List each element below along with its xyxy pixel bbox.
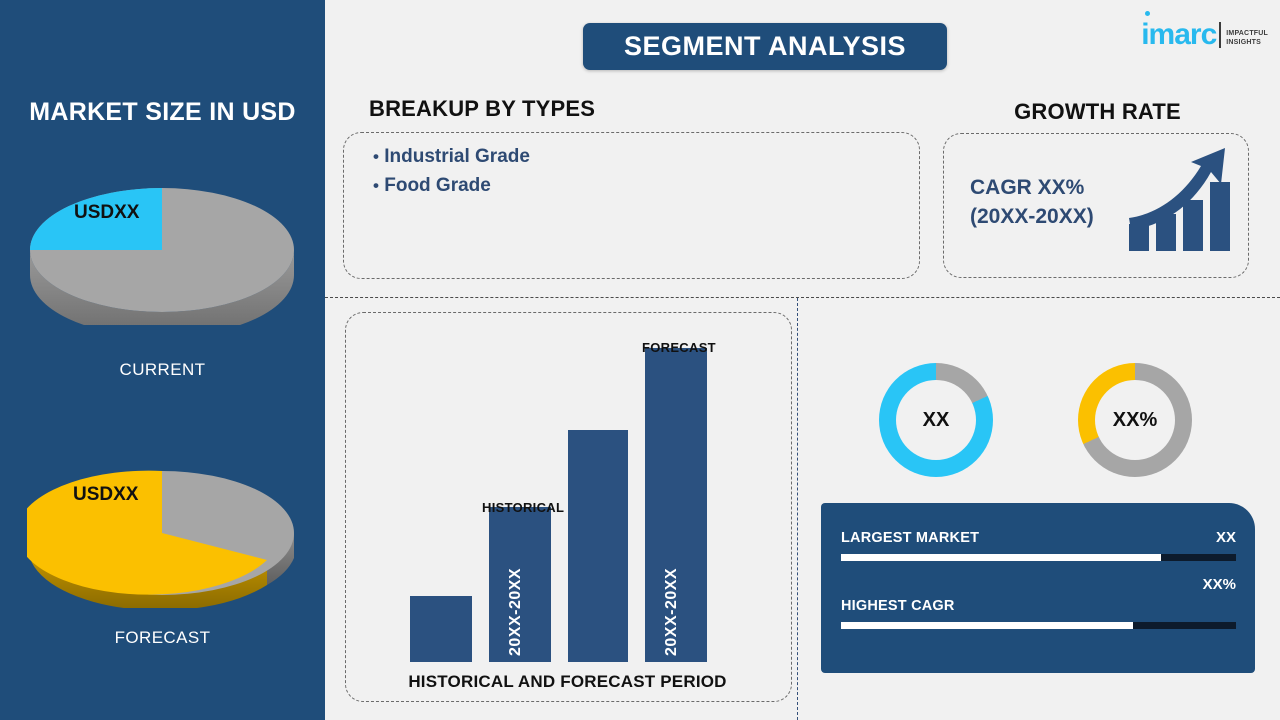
types-list: • Industrial Grade • Food Grade — [373, 142, 530, 200]
bar-2-label: 20XX-20XX — [507, 536, 525, 656]
metric-progress-fill — [841, 554, 1161, 561]
bar-2-top-label: HISTORICAL — [482, 500, 564, 515]
infographic-root: MARKET SIZE IN USD USDXX CURRENT — [0, 0, 1280, 720]
metric-label: LARGEST MARKET — [841, 530, 979, 546]
bullet-icon: • — [373, 147, 379, 166]
forecast-pie-label: FORECAST — [0, 628, 325, 648]
logo-tagline-line2: INSIGHTS — [1226, 38, 1268, 47]
bar-4-label: 20XX-20XX — [663, 536, 681, 656]
list-item-label: Food Grade — [384, 175, 491, 196]
bullet-icon: • — [373, 176, 379, 195]
logo-divider — [1219, 22, 1221, 48]
metric-progress-fill — [841, 622, 1133, 629]
growth-heading: GROWTH RATE — [945, 99, 1250, 125]
metric-value: XX% — [1203, 576, 1236, 593]
current-pie-label: CURRENT — [0, 360, 325, 380]
logo-wordmark-text: imarc — [1141, 18, 1216, 51]
list-item-label: Industrial Grade — [384, 146, 530, 167]
logo-dot-icon — [1145, 11, 1150, 16]
metric-largest-market: LARGEST MARKET XX — [841, 530, 1236, 561]
cagr-text: CAGR XX% (20XX-20XX) — [970, 173, 1130, 231]
current-pie-svg — [27, 165, 297, 325]
forecast-pie-chart: USDXX — [27, 448, 297, 608]
metric-label: HIGHEST CAGR — [841, 598, 955, 614]
cagr-line-1: CAGR XX% — [970, 173, 1130, 202]
bar-3 — [568, 430, 628, 662]
types-heading: BREAKUP BY TYPES — [369, 96, 595, 122]
list-item: • Food Grade — [373, 171, 530, 200]
bar-4-top-label: FORECAST — [642, 340, 716, 355]
sidebar-market-size: MARKET SIZE IN USD USDXX CURRENT — [0, 0, 325, 720]
sidebar-title: MARKET SIZE IN USD — [0, 98, 325, 127]
metric-value: XX — [1216, 529, 1236, 546]
logo-wordmark: imarc — [1141, 20, 1216, 50]
page-title-text: SEGMENT ANALYSIS — [624, 31, 906, 62]
list-item: • Industrial Grade — [373, 142, 530, 171]
growth-arrow-bars-icon — [1125, 140, 1235, 255]
metric-progress-track — [841, 622, 1236, 629]
current-pie-chart: USDXX — [27, 165, 297, 325]
metric-progress-track — [841, 554, 1236, 561]
cagr-line-2: (20XX-20XX) — [970, 202, 1130, 231]
imarc-logo: imarc IMPACTFUL INSIGHTS — [1141, 10, 1268, 50]
page-title: SEGMENT ANALYSIS — [583, 23, 947, 70]
forecast-pie-svg — [27, 448, 297, 608]
metrics-panel: LARGEST MARKET XX HIGHEST CAGR XX% — [821, 503, 1255, 673]
metric-highest-cagr: HIGHEST CAGR XX% — [841, 598, 1236, 629]
historical-forecast-bar-chart: 20XX-20XX HISTORICAL 20XX-20XX FORECAST … — [345, 312, 790, 700]
main-panel: SEGMENT ANALYSIS imarc IMPACTFUL INSIGHT… — [325, 0, 1280, 720]
horizontal-divider — [325, 297, 1280, 298]
bar-chart-caption: HISTORICAL AND FORECAST PERIOD — [345, 672, 790, 692]
bar-1 — [410, 596, 472, 662]
logo-tagline-line1: IMPACTFUL — [1226, 29, 1268, 38]
logo-tagline: IMPACTFUL INSIGHTS — [1226, 29, 1268, 47]
vertical-divider — [797, 298, 798, 720]
highest-cagr-donut-value: XX% — [1078, 363, 1192, 477]
largest-market-donut-value: XX — [879, 363, 993, 477]
